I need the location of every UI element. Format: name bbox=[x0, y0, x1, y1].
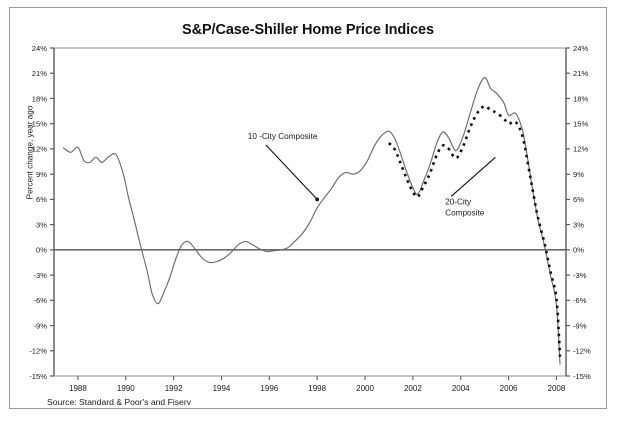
y-tick-label-left: 18% bbox=[32, 94, 47, 103]
annotation-label-20-city-line2: Composite bbox=[445, 208, 485, 217]
y-tick-label-left: 21% bbox=[32, 69, 47, 78]
y-tick-label-right: 15% bbox=[573, 119, 588, 128]
y-tick-label-right: 21% bbox=[573, 69, 588, 78]
y-tick-label-right: -12% bbox=[573, 347, 591, 356]
x-tick-label: 1996 bbox=[260, 384, 278, 393]
series-line bbox=[389, 106, 560, 357]
annotation-label-20-city-line1: 20-City bbox=[445, 197, 472, 206]
x-tick-label: 2004 bbox=[452, 384, 470, 393]
y-tick-label-left: -9% bbox=[33, 321, 47, 330]
x-tick-label: 2000 bbox=[356, 384, 374, 393]
y-tick-label-left: 3% bbox=[36, 220, 47, 229]
x-tick-label: 1998 bbox=[308, 384, 326, 393]
data-series bbox=[64, 77, 560, 364]
y-tick-label-left: 12% bbox=[32, 145, 47, 154]
y-tick-label-right: 3% bbox=[573, 220, 584, 229]
x-tick-label: 2008 bbox=[548, 384, 566, 393]
x-tick-label: 2002 bbox=[404, 384, 422, 393]
y-tick-label-left: 6% bbox=[36, 195, 47, 204]
y-tick-label-left: 9% bbox=[36, 170, 47, 179]
plot-area: 24%21%18%15%12%9%6%3%0%-3%-6%-9%-12%-15%… bbox=[10, 8, 608, 410]
y-tick-label-left: 24% bbox=[32, 44, 47, 53]
x-tick-label: 2006 bbox=[500, 384, 518, 393]
source-note: Source: Standard & Poor's and Fiserv bbox=[47, 397, 191, 407]
y-tick-label-right: 0% bbox=[573, 246, 584, 255]
y-tick-label-left: -15% bbox=[29, 372, 47, 381]
y-tick-label-left: -12% bbox=[29, 347, 47, 356]
y-axis-ticks-left: 24%21%18%15%12%9%6%3%0%-3%-6%-9%-12%-15% bbox=[29, 44, 54, 381]
y-tick-label-left: 0% bbox=[36, 246, 47, 255]
x-tick-label: 1990 bbox=[117, 384, 135, 393]
series-line bbox=[64, 77, 560, 364]
y-tick-label-right: 18% bbox=[573, 94, 588, 103]
y-tick-label-left: 15% bbox=[32, 119, 47, 128]
y-tick-label-right: -15% bbox=[573, 372, 591, 381]
series-annotations: 10 -City Composite20-CityComposite bbox=[248, 132, 496, 218]
y-tick-label-right: 12% bbox=[573, 145, 588, 154]
y-tick-label-right: 6% bbox=[573, 195, 584, 204]
x-tick-label: 1988 bbox=[69, 384, 87, 393]
y-tick-label-right: -9% bbox=[573, 321, 587, 330]
x-tick-label: 1994 bbox=[213, 384, 231, 393]
y-tick-label-left: -6% bbox=[33, 296, 47, 305]
y-tick-label-left: -3% bbox=[33, 271, 47, 280]
y-tick-label-right: -6% bbox=[573, 296, 587, 305]
y-tick-label-right: 24% bbox=[573, 44, 588, 53]
annotation-label-10-city: 10 -City Composite bbox=[248, 132, 318, 141]
axis-lines bbox=[54, 48, 566, 376]
x-tick-label: 1992 bbox=[165, 384, 183, 393]
x-axis-ticks: 1988199019921994199619982000200220042006… bbox=[69, 376, 566, 393]
chart-figure: S&P/Case-Shiller Home Price Indices Perc… bbox=[9, 7, 607, 409]
y-axis-ticks-right: 24%21%18%15%12%9%6%3%0%-3%-6%-9%-12%-15% bbox=[566, 44, 591, 381]
y-tick-label-right: -3% bbox=[573, 271, 587, 280]
y-tick-label-right: 9% bbox=[573, 170, 584, 179]
